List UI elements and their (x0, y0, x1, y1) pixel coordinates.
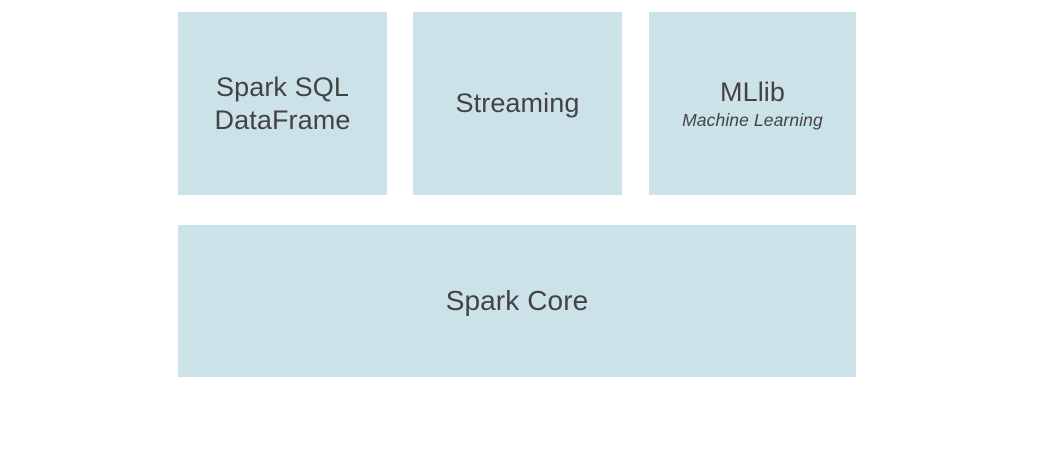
diagram-block-mllib[interactable]: MLlib Machine Learning (649, 12, 856, 195)
diagram-block-streaming-title: Streaming (456, 87, 580, 120)
diagram-block-spark-core[interactable]: Spark Core (178, 225, 856, 377)
diagram-block-spark-core-title: Spark Core (446, 284, 589, 318)
diagram-block-streaming[interactable]: Streaming (413, 12, 622, 195)
diagram-block-spark-sql-title: Spark SQL DataFrame (215, 71, 351, 137)
diagram-block-mllib-title: MLlib (720, 77, 785, 108)
diagram-block-spark-sql[interactable]: Spark SQL DataFrame (178, 12, 387, 195)
diagram-canvas: Spark SQL DataFrame Streaming MLlib Mach… (0, 0, 1053, 457)
diagram-block-mllib-subtitle: Machine Learning (682, 109, 823, 131)
